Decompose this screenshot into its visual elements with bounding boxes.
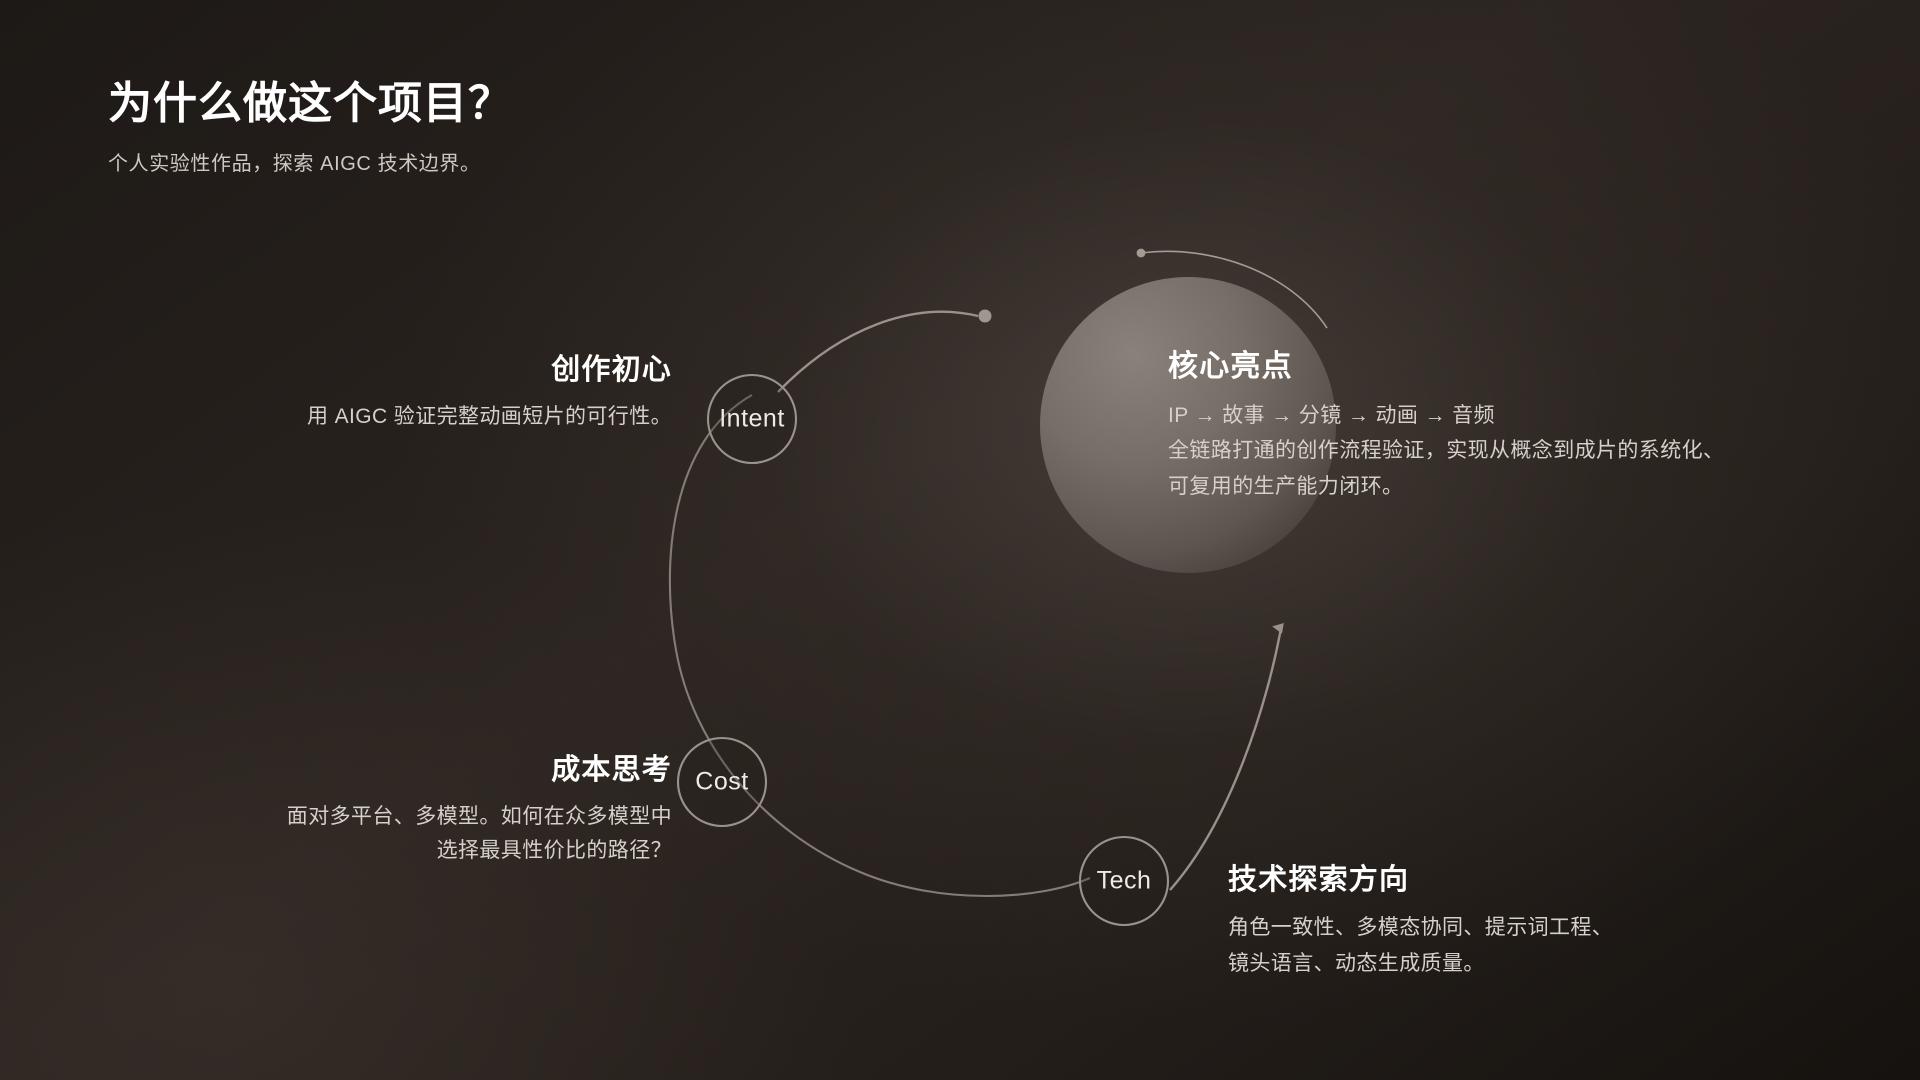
block-tech-line1: 角色一致性、多模态协同、提示词工程、 bbox=[1228, 910, 1920, 946]
block-core-heading: 核心亮点 bbox=[1168, 348, 1920, 386]
node-label-cost[interactable]: Cost bbox=[695, 768, 748, 797]
block-intent-body: 用 AIGC 验证完整动画短片的可行性。 bbox=[100, 400, 672, 434]
block-creative-intent: 创作初心 用 AIGC 验证完整动画短片的可行性。 bbox=[100, 352, 672, 434]
block-tech-direction: 技术探索方向 角色一致性、多模态协同、提示词工程、 镜头语言、动态生成质量。 bbox=[1228, 862, 1920, 982]
node-label-tech[interactable]: Tech bbox=[1097, 867, 1152, 896]
tech-arrow-connector bbox=[1170, 628, 1281, 890]
intent-connector-dot bbox=[979, 310, 992, 323]
block-cost-line2: 选择最具性价比的路径？ bbox=[70, 834, 672, 868]
block-core-highlight: 核心亮点 IP → 故事 → 分镜 → 动画 → 音频 全链路打通的创作流程验证… bbox=[1168, 348, 1920, 505]
block-intent-heading: 创作初心 bbox=[100, 352, 672, 388]
block-tech-line2: 镜头语言、动态生成质量。 bbox=[1228, 946, 1920, 982]
node-label-intent[interactable]: Intent bbox=[719, 405, 785, 434]
intent-connector bbox=[778, 312, 978, 392]
block-tech-heading: 技术探索方向 bbox=[1228, 862, 1920, 898]
slide-canvas: 为什么做这个项目？ 个人实验性作品，探索 AIGC 技术边界。 bbox=[0, 0, 1920, 1080]
block-cost-thinking: 成本思考 面对多平台、多模型。如何在众多模型中 选择最具性价比的路径？ bbox=[70, 752, 672, 868]
block-core-line2: 可复用的生产能力闭环。 bbox=[1168, 469, 1920, 505]
block-core-line1: 全链路打通的创作流程验证，实现从概念到成片的系统化、 bbox=[1168, 433, 1920, 469]
block-cost-line1: 面对多平台、多模型。如何在众多模型中 bbox=[70, 800, 672, 834]
core-pipeline-text: IP → 故事 → 分镜 → 动画 → 音频 bbox=[1168, 398, 1920, 434]
block-cost-heading: 成本思考 bbox=[70, 752, 672, 788]
decorative-arc-dot bbox=[1137, 249, 1146, 258]
